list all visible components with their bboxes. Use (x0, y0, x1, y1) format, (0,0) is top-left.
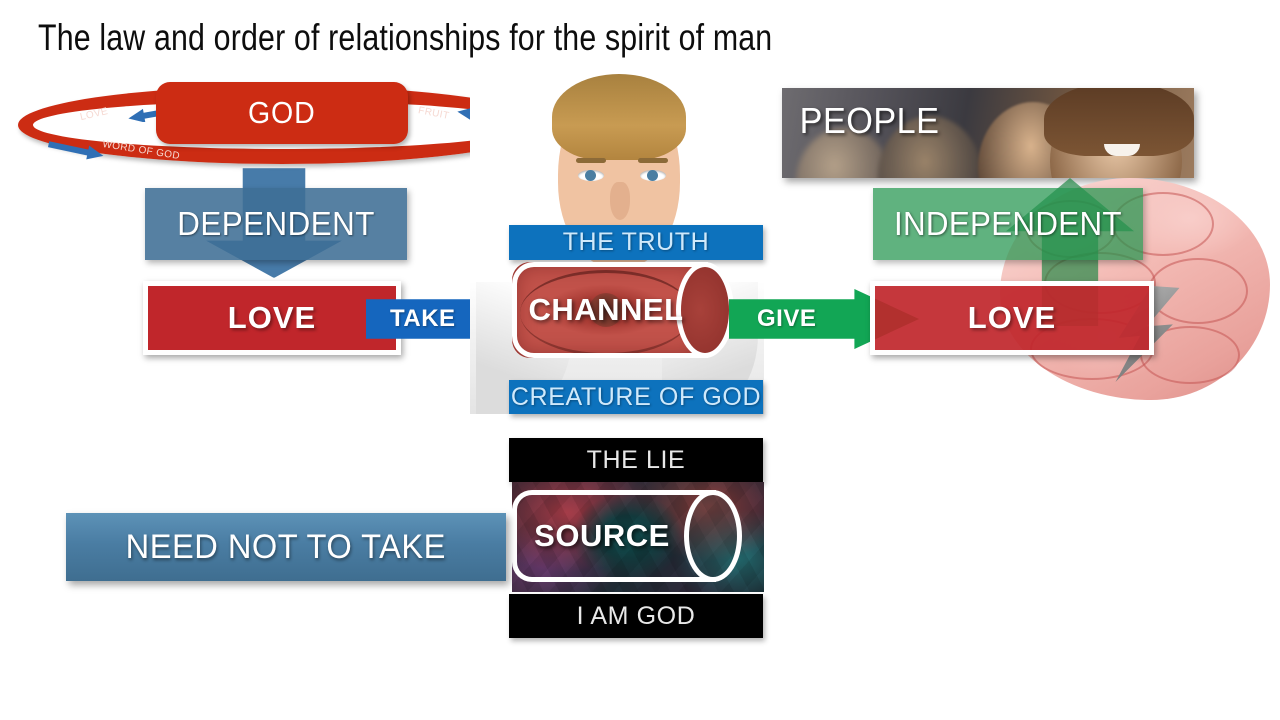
creature-of-god-banner: CREATURE OF GOD (509, 380, 763, 414)
source-label-wrap: SOURCE (512, 490, 692, 582)
slide-canvas: The law and order of relationships for t… (0, 0, 1280, 720)
people-label: PEOPLE (800, 100, 940, 142)
nose (610, 182, 630, 220)
love-box-left[interactable]: LOVE (143, 281, 401, 355)
channel-label: CHANNEL (528, 292, 683, 328)
i-am-god-label: I AM GOD (577, 602, 696, 631)
creature-of-god-label: CREATURE OF GOD (511, 383, 761, 412)
take-label: TAKE (390, 305, 456, 333)
dependent-label: DEPENDENT (177, 205, 375, 243)
love-box-right[interactable]: LOVE (870, 281, 1154, 355)
eyebrow-right (638, 158, 668, 163)
give-label: GIVE (757, 305, 816, 333)
iris-left (585, 170, 596, 181)
love-label-left: LOVE (228, 300, 316, 336)
the-truth-banner: THE TRUTH (509, 225, 763, 260)
the-lie-banner: THE LIE (509, 438, 763, 482)
need-not-to-take-box[interactable]: NEED NOT TO TAKE (66, 513, 506, 581)
arrow-right-icon-word-of-god (46, 140, 106, 160)
eyebrow-left (576, 158, 606, 163)
dependent-box[interactable]: DEPENDENT (145, 188, 407, 260)
god-ring-group: LOVE FRUIT WORD OF GOD GOD (18, 82, 548, 178)
channel-label-wrap: CHANNEL (512, 262, 700, 358)
independent-label: INDEPENDENT (894, 205, 1122, 243)
iris-right (647, 170, 658, 181)
channel-cylinder[interactable]: CHANNEL (512, 262, 734, 358)
page-title: The law and order of relationships for t… (38, 16, 772, 60)
i-am-god-banner: I AM GOD (509, 594, 763, 638)
source-cylinder[interactable]: SOURCE (512, 482, 764, 592)
need-not-to-take-label: NEED NOT TO TAKE (126, 528, 446, 567)
god-box[interactable]: GOD (156, 82, 408, 144)
independent-box[interactable]: INDEPENDENT (873, 188, 1143, 260)
source-label: SOURCE (534, 518, 670, 554)
the-truth-label: THE TRUTH (563, 228, 710, 257)
god-label: GOD (248, 95, 316, 131)
the-lie-label: THE LIE (587, 446, 686, 475)
hair (552, 74, 686, 160)
love-label-right: LOVE (968, 300, 1056, 336)
source-cylinder-cap (684, 490, 742, 582)
